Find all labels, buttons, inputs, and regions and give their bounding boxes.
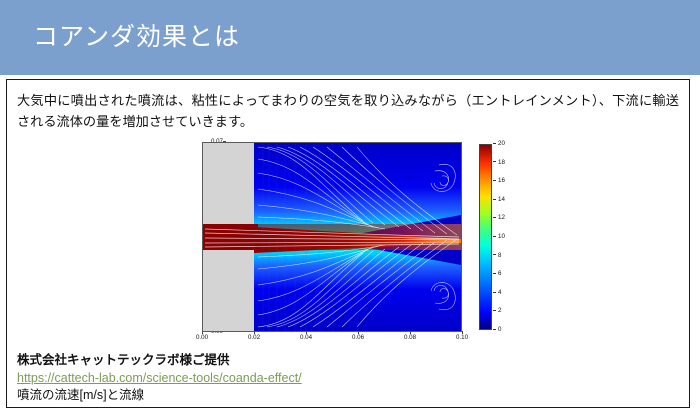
colorbar-tick-mark — [493, 143, 496, 144]
colorbar-tick-label: 16 — [493, 177, 505, 184]
colorbar-tick-mark — [493, 254, 496, 255]
cfd-figure: 0.000.010.020.030.040.050.060.07 0.000.0… — [159, 138, 529, 343]
colorbar-tick-label: 2 — [493, 307, 501, 314]
plot-area — [202, 142, 462, 332]
colorbar-ticks: 02468101214161820 — [493, 138, 527, 336]
content-card: 大気中に噴出された噴流は、粘性によってまわりの空気を取り込みながら（エントレイン… — [6, 79, 690, 408]
colorbar — [479, 144, 492, 330]
colorbar-tick-label: 12 — [493, 214, 505, 221]
flow-field-plot — [203, 143, 461, 331]
x-tick-label: 0.02 — [239, 334, 269, 341]
colorbar-tick-label: 8 — [493, 252, 501, 259]
x-tick-label: 0.10 — [447, 334, 477, 341]
colorbar-tick-mark — [493, 199, 496, 200]
x-tick-label: 0.08 — [395, 334, 425, 341]
x-tick-label: 0.00 — [187, 334, 217, 341]
figure-caption: 噴流の流速[m/s]と流線 — [17, 387, 144, 404]
x-tick-label: 0.04 — [291, 334, 321, 341]
page-title: コアンダ効果とは — [33, 22, 240, 52]
body-paragraph: 大気中に噴出された噴流は、粘性によってまわりの空気を取り込みながら（エントレイン… — [17, 90, 679, 132]
colorbar-tick-label: 20 — [493, 140, 505, 147]
slide-root: コアンダ効果とは 大気中に噴出された噴流は、粘性によってまわりの空気を取り込みな… — [0, 0, 700, 413]
header-band: コアンダ効果とは — [0, 0, 700, 75]
colorbar-tick-label: 6 — [493, 270, 501, 277]
colorbar-tick-mark — [493, 161, 496, 162]
x-tick-mark — [462, 331, 463, 334]
colorbar-tick-mark — [493, 310, 496, 311]
colorbar-tick-label: 4 — [493, 289, 501, 296]
colorbar-tick-label: 10 — [493, 233, 505, 240]
colorbar-tick-label: 14 — [493, 196, 505, 203]
colorbar-tick-mark — [493, 273, 496, 274]
colorbar-tick-mark — [493, 292, 496, 293]
credit-text: 株式会社キャットテックラボ様ご提供 — [17, 352, 230, 369]
colorbar-tick-label: 0 — [493, 326, 501, 333]
colorbar-tick-mark — [493, 329, 496, 330]
colorbar-tick-mark — [493, 217, 496, 218]
source-link[interactable]: https://cattech-lab.com/science-tools/co… — [17, 370, 302, 387]
colorbar-tick-mark — [493, 180, 496, 181]
colorbar-tick-mark — [493, 236, 496, 237]
colorbar-tick-label: 18 — [493, 159, 505, 166]
x-tick-label: 0.06 — [343, 334, 373, 341]
